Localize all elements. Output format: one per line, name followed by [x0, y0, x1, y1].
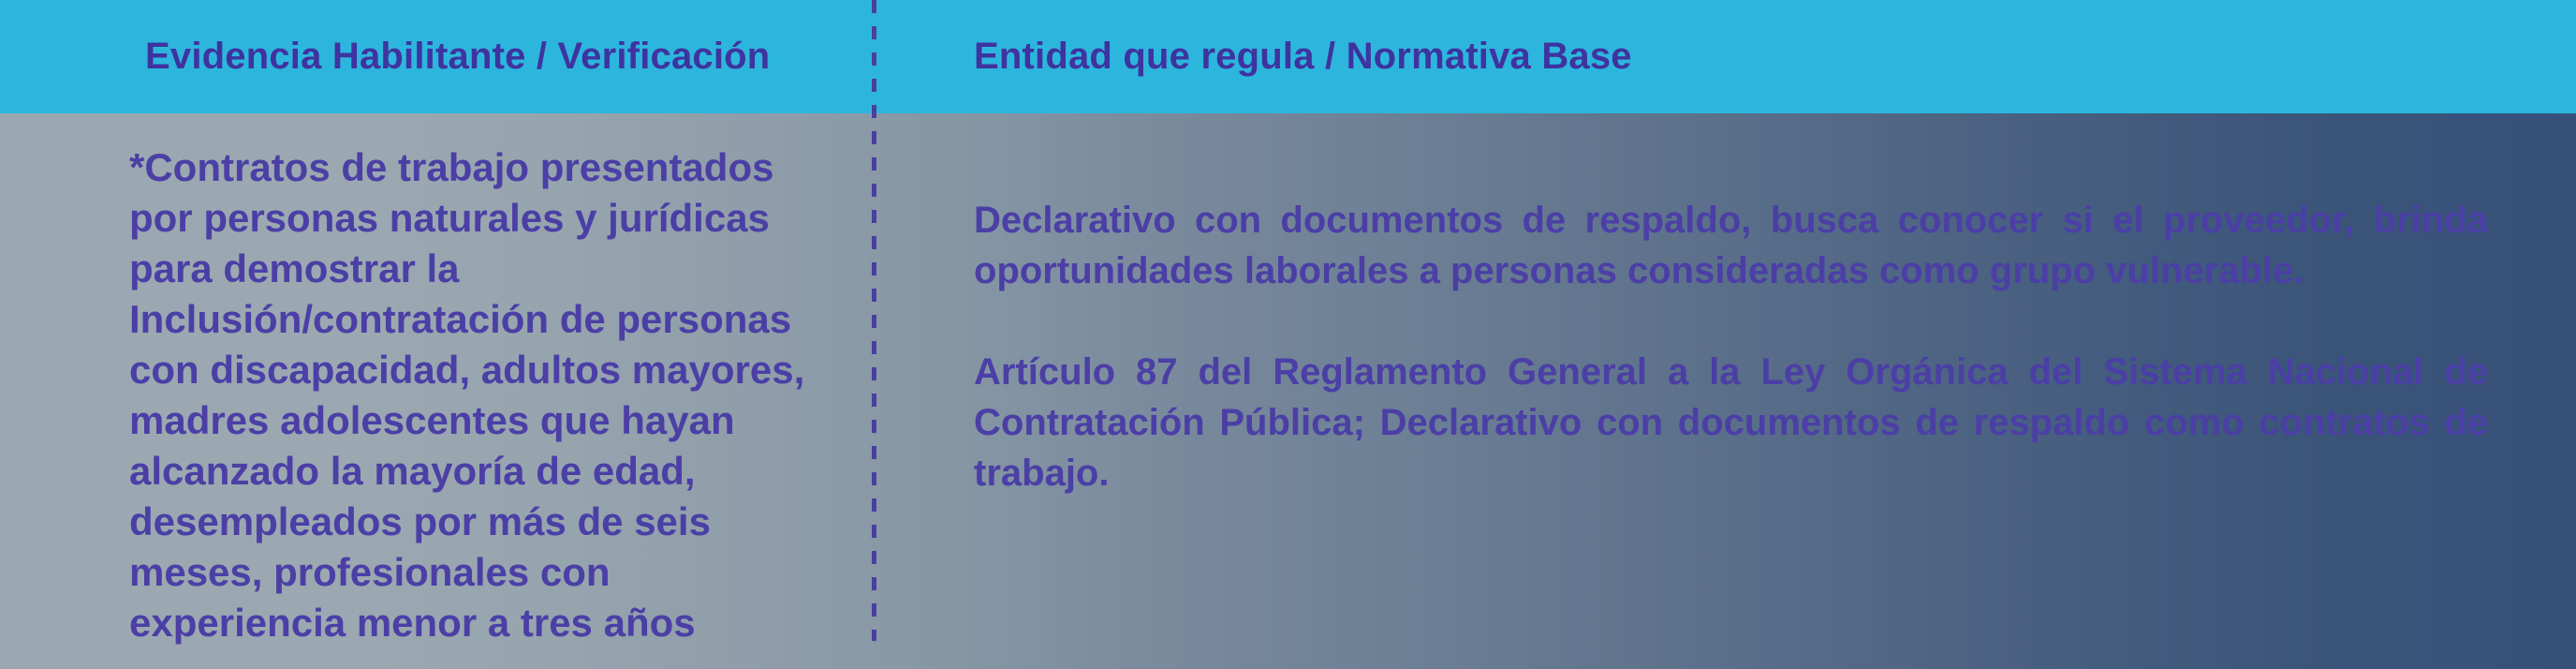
cell-entidad-body: Declarativo con documentos de respaldo, … — [974, 195, 2488, 498]
entidad-paragraph-1: Declarativo con documentos de respaldo, … — [974, 195, 2488, 296]
column-header-entidad: Entidad que regula / Normativa Base — [974, 0, 1632, 113]
column-divider-dashed — [872, 0, 876, 641]
cell-evidencia-body: *Contratos de trabajo presentados por pe… — [129, 142, 822, 648]
slide-root: Evidencia Habilitante / Verificación Ent… — [0, 0, 2576, 669]
entidad-paragraph-2: Artículo 87 del Reglamento General a la … — [974, 347, 2488, 498]
column-header-evidencia: Evidencia Habilitante / Verificación — [145, 0, 770, 113]
